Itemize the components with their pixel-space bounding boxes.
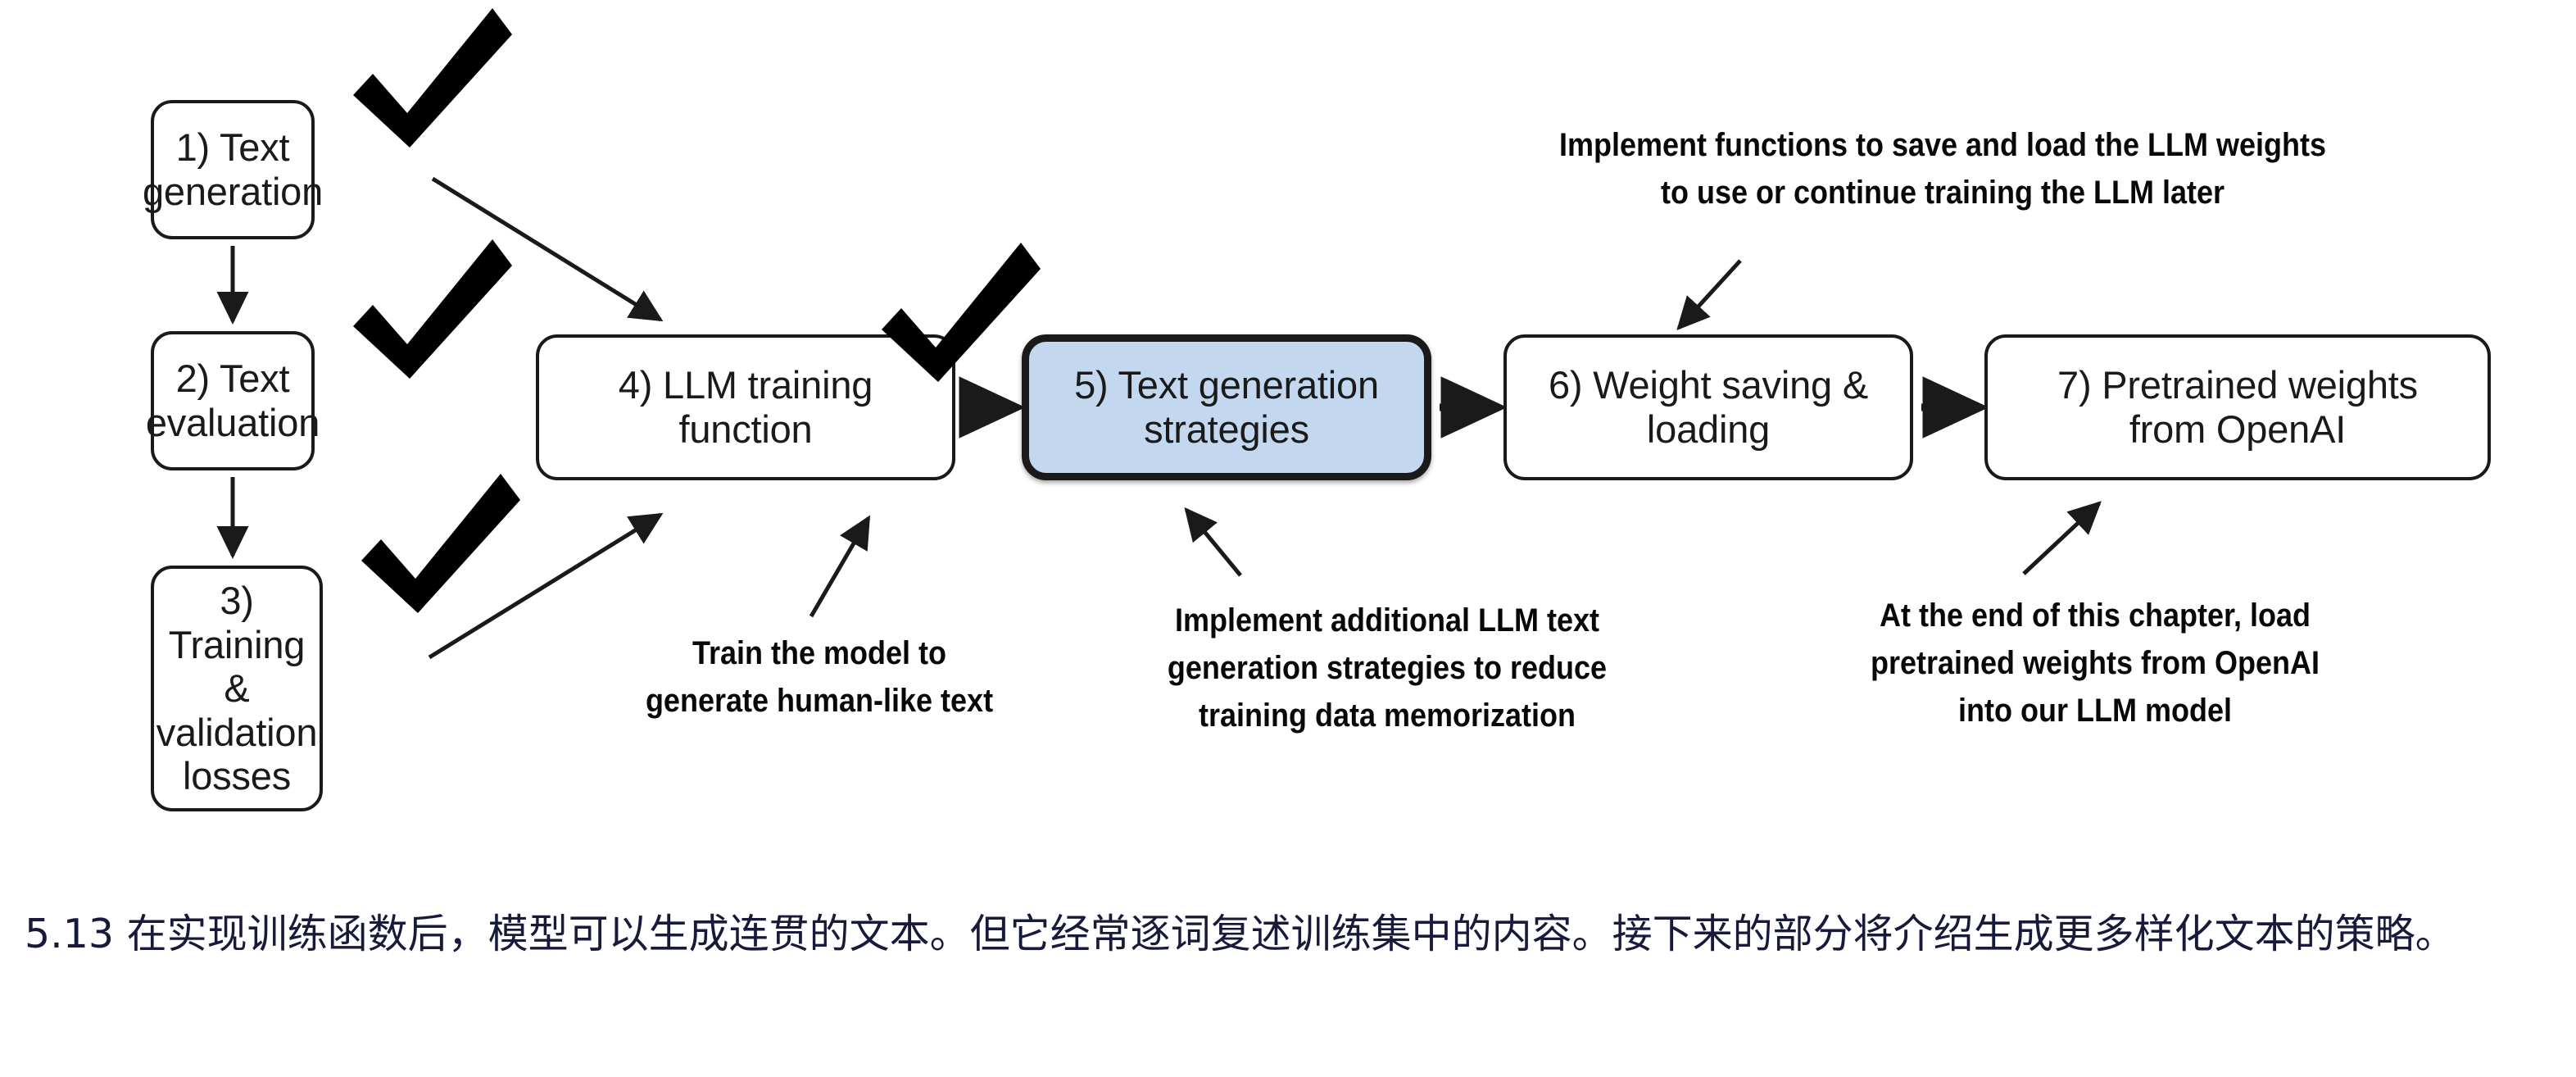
- flow-node-label: 4) LLM training function: [610, 363, 882, 451]
- checkmark-icon-node2: [353, 239, 512, 379]
- leader-strategies-annotation-to-node5: [1186, 510, 1240, 575]
- flow-node-text-generation-strategies[interactable]: 5) Text generation strategies: [1022, 334, 1431, 480]
- flow-node-label: 2) Text evaluation: [138, 357, 328, 444]
- checkmark-icon-node1: [353, 8, 512, 148]
- annotation-weight-saving: Implement functions to save and load the…: [1475, 121, 2411, 216]
- flow-node-label: 1) Text generation: [134, 125, 331, 213]
- flow-node-pretrained-weights-openai[interactable]: 7) Pretrained weights from OpenAI: [1984, 334, 2491, 480]
- flow-node-label: 6) Weight saving & loading: [1540, 363, 1876, 451]
- annotation-text-generation-strategies: Implement additional LLM text generation…: [1117, 597, 1658, 739]
- figure-caption: 5.13 在实现训练函数后，模型可以生成连贯的文本。但它经常逐词复述训练集中的内…: [25, 907, 2556, 962]
- leader-pretrained-annotation-to-node7: [2024, 503, 2099, 574]
- flow-node-label: 7) Pretrained weights from OpenAI: [2049, 363, 2426, 451]
- figure-canvas: 1) Text generation 2) Text evaluation 3)…: [0, 0, 2576, 1077]
- flow-node-label: 3) Training & validation losses: [148, 579, 326, 798]
- leader-top-annotation-to-node6: [1679, 261, 1740, 328]
- annotation-pretrained-weights: At the end of this chapter, load pretrai…: [1814, 592, 2376, 734]
- flow-node-llm-training-function[interactable]: 4) LLM training function: [536, 334, 955, 480]
- annotation-train-model: Train the model to generate human-like t…: [598, 629, 1041, 725]
- flow-node-weight-saving-loading[interactable]: 6) Weight saving & loading: [1503, 334, 1913, 480]
- flow-node-label: 5) Text generation strategies: [1066, 363, 1387, 451]
- leader-train-annotation-to-node4: [811, 518, 868, 616]
- arrow-node1-to-node4: [433, 179, 660, 320]
- flow-node-text-generation[interactable]: 1) Text generation: [151, 100, 315, 239]
- checkmark-icon-node3: [361, 474, 520, 613]
- flow-node-training-validation-losses[interactable]: 3) Training & validation losses: [151, 566, 323, 811]
- flow-node-text-evaluation[interactable]: 2) Text evaluation: [151, 331, 315, 470]
